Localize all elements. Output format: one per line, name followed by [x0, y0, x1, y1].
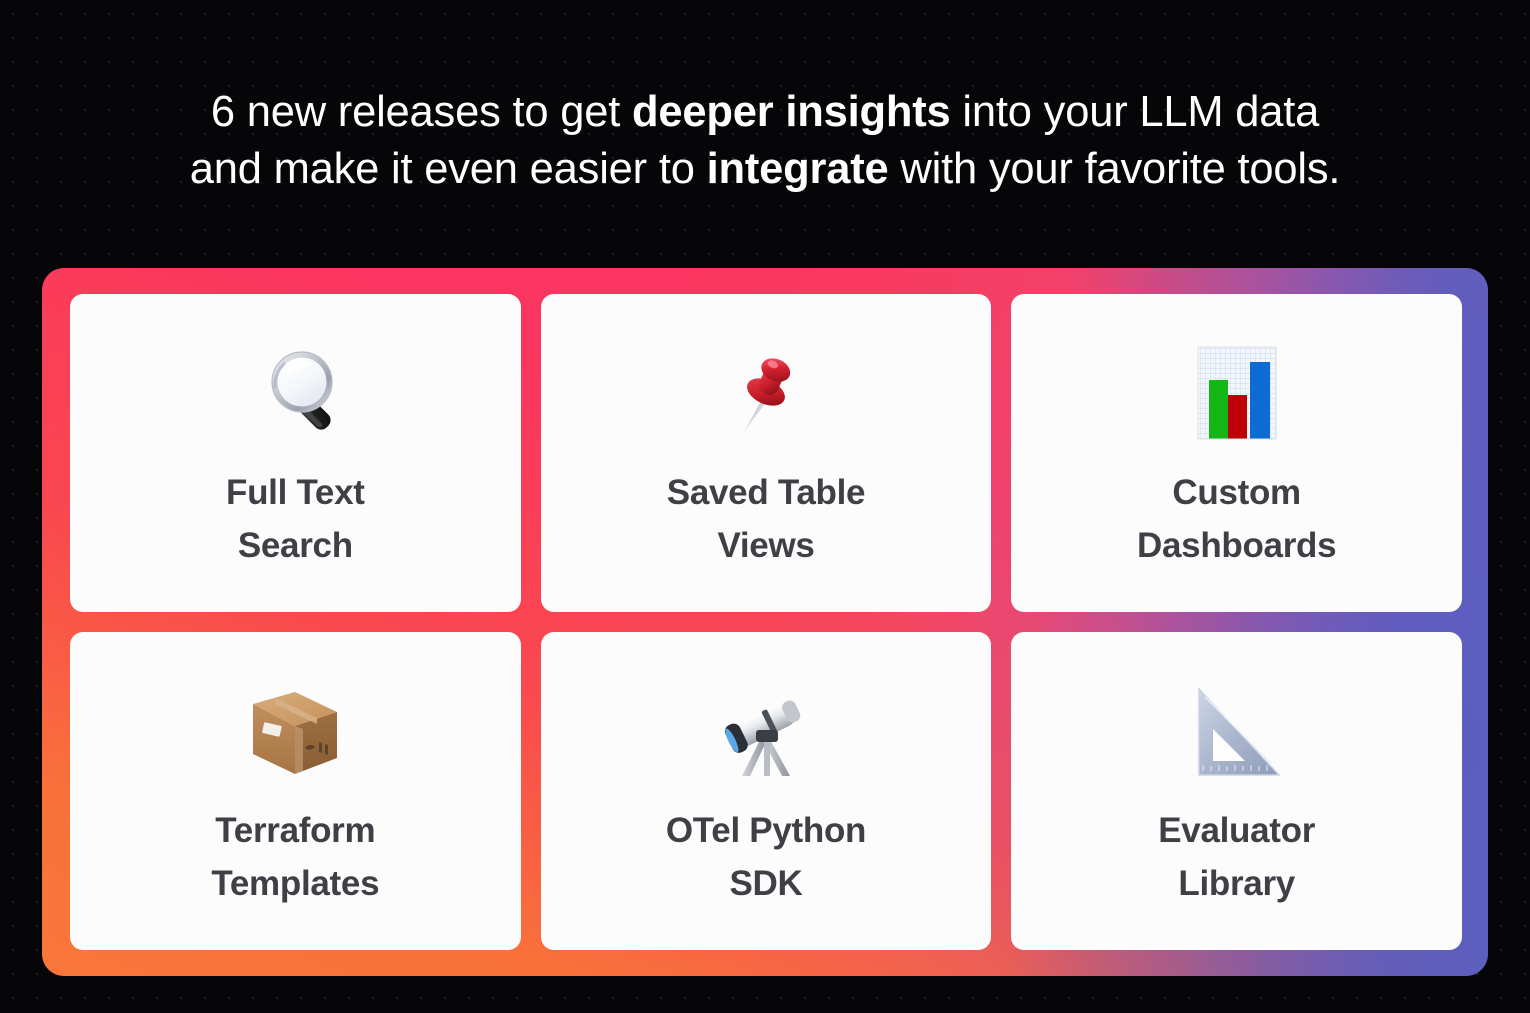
pushpin-icon	[712, 338, 820, 450]
feature-card-label: Evaluator Library	[1158, 804, 1315, 910]
feature-label-line-2: Templates	[211, 857, 379, 910]
page-title: 6 new releases to get deeper insights in…	[0, 84, 1530, 198]
release-highlights-graphic: 6 new releases to get deeper insights in…	[0, 0, 1530, 1013]
feature-card-label: Terraform Templates	[211, 804, 379, 910]
headline-line-1-post: into your LLM data	[951, 88, 1320, 136]
feature-card-label: Saved Table Views	[667, 466, 865, 572]
feature-card-custom-dashboards[interactable]: Custom Dashboards	[1011, 294, 1462, 612]
headline-line-1-pre: 6 new releases to get	[211, 88, 632, 136]
headline-line-2: and make it even easier to integrate wit…	[60, 141, 1470, 198]
magnifying-glass-icon	[241, 338, 349, 450]
headline-line-2-emphasis: integrate	[707, 145, 889, 193]
headline-line-1-emphasis: deeper insights	[632, 88, 951, 136]
gradient-frame: Full Text Search	[42, 268, 1488, 976]
feature-label-line-1: Full Text	[226, 466, 365, 519]
feature-label-line-1: Terraform	[211, 804, 379, 857]
feature-label-line-1: Evaluator	[1158, 804, 1315, 857]
triangular-ruler-icon	[1183, 676, 1291, 788]
feature-card-terraform-templates[interactable]: Terraform Templates	[70, 632, 521, 950]
feature-card-evaluator-library[interactable]: Evaluator Library	[1011, 632, 1462, 950]
feature-label-line-1: OTel Python	[666, 804, 866, 857]
feature-card-label: Custom Dashboards	[1137, 466, 1336, 572]
feature-label-line-2: SDK	[666, 857, 866, 910]
headline-line-2-pre: and make it even easier to	[190, 145, 707, 193]
feature-card-grid: Full Text Search	[70, 294, 1462, 950]
headline-line-2-post: with your favorite tools.	[889, 145, 1341, 193]
feature-card-label: Full Text Search	[226, 466, 365, 572]
feature-label-line-2: Search	[226, 519, 365, 572]
headline-line-1: 6 new releases to get deeper insights in…	[60, 84, 1470, 141]
feature-label-line-1: Custom	[1137, 466, 1336, 519]
feature-card-otel-python-sdk[interactable]: OTel Python SDK	[541, 632, 992, 950]
feature-card-saved-table-views[interactable]: Saved Table Views	[541, 294, 992, 612]
feature-label-line-2: Dashboards	[1137, 519, 1336, 572]
feature-card-label: OTel Python SDK	[666, 804, 866, 910]
feature-label-line-2: Library	[1158, 857, 1315, 910]
telescope-icon	[712, 676, 820, 788]
bar-chart-icon	[1183, 338, 1291, 450]
feature-label-line-1: Saved Table	[667, 466, 865, 519]
feature-label-line-2: Views	[667, 519, 865, 572]
feature-card-full-text-search[interactable]: Full Text Search	[70, 294, 521, 612]
package-box-icon	[241, 676, 349, 788]
